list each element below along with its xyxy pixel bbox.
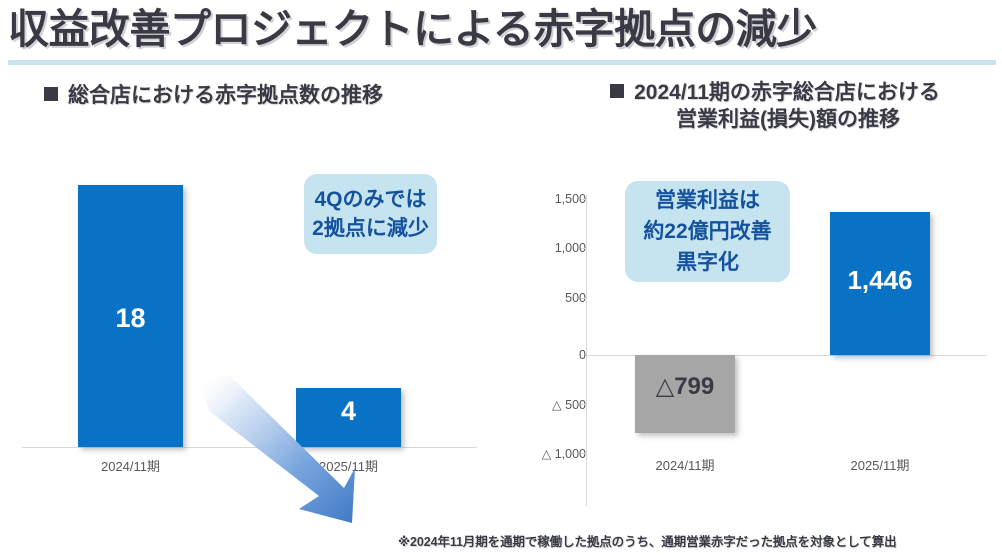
y-tick-neg500: △ 500 xyxy=(522,397,586,412)
y-tick-0: 0 xyxy=(522,348,586,362)
bar-value-2024: 18 xyxy=(78,303,183,334)
y-tick-mark-neg500 xyxy=(581,404,587,405)
bar-value-2024-loss: △799 xyxy=(635,372,735,401)
square-bullet-icon-right xyxy=(610,84,624,98)
slide-root: 収益改善プロジェクトによる赤字拠点の減少 総合店における赤字拠点数の推移 18 … xyxy=(0,0,1002,557)
footnote: ※2024年11月期を通期で稼働した拠点のうち、通期営業赤字だった拠点を対象とし… xyxy=(398,531,992,550)
callout-left-line1: 4Qのみでは xyxy=(314,185,426,214)
bar-value-2025-profit: 1,446 xyxy=(830,265,930,296)
callout-right: 営業利益は 約22億円改善 黒字化 xyxy=(625,181,790,282)
callout-right-line3: 黒字化 xyxy=(676,247,739,278)
title-divider xyxy=(8,60,996,65)
y-tick-neg1000: △ 1,000 xyxy=(522,446,586,461)
category-label-2024: 2024/11期 xyxy=(78,456,183,475)
callout-right-line2: 約22億円改善 xyxy=(643,216,771,247)
category-label-right-2024: 2024/11期 xyxy=(630,455,740,474)
category-label-right-2025: 2025/11期 xyxy=(825,455,935,474)
section-heading-right: 2024/11期の赤字総合店における 営業利益(損失)額の推移 xyxy=(560,79,990,133)
callout-left: 4Qのみでは 2拠点に減少 xyxy=(304,174,437,254)
section-heading-left-text: 総合店における赤字拠点数の推移 xyxy=(68,84,383,107)
page-title: 収益改善プロジェクトによる赤字拠点の減少 xyxy=(8,2,968,56)
section-heading-right-line2: 営業利益(損失)額の推移 xyxy=(560,106,990,133)
y-axis-tick-group: 1,500 1,000 500 0 △ 500 △ 1,000 xyxy=(510,140,586,480)
square-bullet-icon xyxy=(44,87,58,101)
decline-arrow-icon xyxy=(196,376,356,526)
y-tick-1500: 1,500 xyxy=(522,192,586,206)
section-heading-left: 総合店における赤字拠点数の推移 xyxy=(44,79,383,109)
y-tick-1000: 1,000 xyxy=(522,241,586,255)
right-chart-y-axis xyxy=(586,195,587,506)
y-tick-mark-500 xyxy=(581,298,587,299)
callout-right-line1: 営業利益は xyxy=(655,185,760,216)
y-tick-500: 500 xyxy=(522,291,586,305)
callout-left-line2: 2拠点に減少 xyxy=(312,214,429,243)
y-tick-mark-neg1000 xyxy=(581,453,587,454)
y-tick-mark-1500 xyxy=(581,199,587,200)
y-tick-mark-1000 xyxy=(581,248,587,249)
section-heading-right-line1: 2024/11期の赤字総合店における xyxy=(634,81,940,104)
